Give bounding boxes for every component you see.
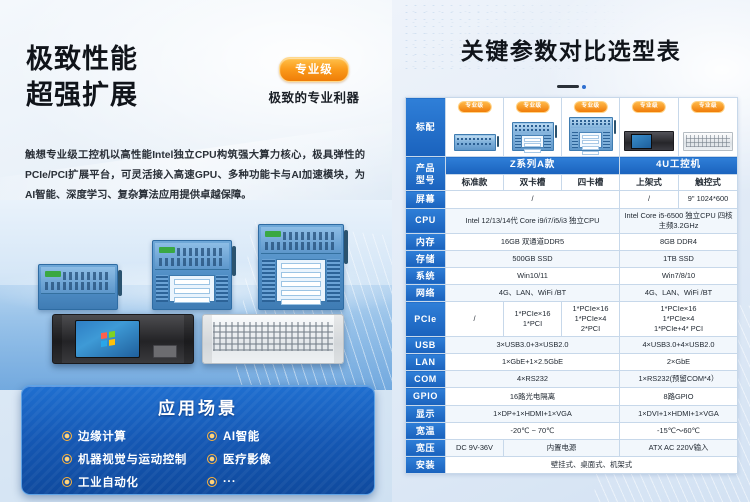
mini-box-icon	[454, 134, 496, 151]
pro-badge: 专业级	[279, 57, 349, 82]
device-tpc07	[258, 224, 344, 310]
headline-line-1: 极致性能	[26, 42, 138, 78]
left-panel: 极致性能 超强扩展 专业级 极致的专业利器 触想专业级工控机以高性能Intel独…	[0, 0, 392, 502]
group-header-4u: 4U工控机	[620, 157, 738, 175]
rowhead-13: 宽压	[406, 439, 446, 456]
page-title: 极致性能 超强扩展	[26, 42, 138, 113]
mini-box-icon	[569, 117, 613, 151]
table-row: 内存16GB 双通道DDR58GB DDR4	[406, 233, 738, 250]
bullet-icon	[207, 477, 217, 487]
scenario-item: AI智能	[207, 428, 352, 444]
spec-table-title: 关键参数对比选型表	[392, 32, 750, 66]
mini-port-row	[515, 129, 551, 131]
mini-port-row	[457, 138, 493, 140]
cell-r6-c2: 1*PCIe×161*PCIe×42*PCI	[562, 302, 620, 337]
mini-rack-light-icon	[683, 132, 733, 151]
rowhead-line-2: 型号	[407, 174, 444, 186]
rowhead-8: LAN	[406, 354, 446, 371]
cell-r5-c0: 4G、LAN、WiFi /BT	[446, 284, 620, 301]
cell-r6-c1: 1*PCIe×161*PCI	[504, 302, 562, 337]
mini-vent-left	[515, 135, 521, 148]
power-button-group	[153, 345, 177, 358]
rowhead-standard: 标配	[406, 98, 446, 157]
port-row-bottom	[45, 282, 111, 290]
table-row-model-subs: 标准款 双卡槽 四卡槽 上架式 触控式	[406, 174, 738, 191]
device-tpc03-rack	[202, 314, 344, 364]
scenarios-title: 应用场景	[22, 394, 374, 419]
cell-r4-c0: Win10/11	[446, 267, 620, 284]
device-tpc03-panel-pc	[52, 314, 194, 364]
table-row: 宽温-20℃ ~ 70℃-15℃～60℃	[406, 422, 738, 439]
mini-vent-left	[572, 132, 579, 148]
scenario-label: 工业自动化	[78, 474, 139, 490]
device-front-panel	[261, 227, 341, 254]
device-tpc05	[38, 264, 118, 310]
cell-r12-c0: -20℃ ~ 70℃	[446, 422, 620, 439]
mini-expansion-slots	[521, 135, 543, 148]
port-row-top	[283, 232, 337, 240]
mini-pro-badge: 专业级	[457, 101, 491, 113]
device-front-panel	[155, 243, 229, 270]
thumb-cell-1: 专业级	[446, 98, 504, 157]
table-row: 系统Win10/11Win7/8/10	[406, 267, 738, 284]
table-row: 安装壁挂式、桌面式、机架式	[406, 457, 738, 474]
cell-r4-c1: Win7/8/10	[620, 267, 738, 284]
rowhead-12: 宽温	[406, 422, 446, 439]
rowhead-9: COM	[406, 371, 446, 388]
cell-r3-c1: 1TB SSD	[620, 250, 738, 267]
cell-r12-c1: -15℃～60℃	[620, 422, 738, 439]
terminal-block-icon	[265, 231, 281, 237]
table-row: GPIO16路光电隔离8路GPIO	[406, 388, 738, 405]
rowhead-10: GPIO	[406, 388, 446, 405]
scenario-label: 边缘计算	[78, 428, 126, 444]
mini-ventilation-grille	[686, 135, 729, 147]
thumb-cell-2: 专业级	[504, 98, 562, 157]
rowhead-1: CPU	[406, 208, 446, 233]
product-description: 触想专业级工控机以高性能Intel独立CPU构筑强大算力核心，极具弹性的PCIe…	[25, 146, 365, 206]
scenario-label: 医疗影像	[223, 451, 271, 467]
pro-badge-group: 专业级 极致的专业利器	[246, 57, 382, 106]
rowhead-0: 屏幕	[406, 191, 446, 208]
antenna-icon	[344, 230, 348, 264]
cell-r6-c3: 1*PCIe×161*PCIe×41*PCIe+4* PCI	[620, 302, 738, 337]
scenario-item: 医疗影像	[207, 451, 352, 467]
thumbnail-device-5	[683, 132, 733, 151]
cell-r8-c0: 1×GbE+1×2.5GbE	[446, 354, 620, 371]
rowhead-line-1: 产品	[407, 162, 444, 174]
cell-r1-c0: Intel 12/13/14代 Core i9/i7/i5/i3 独立CPU	[446, 208, 620, 233]
vent-right	[216, 275, 228, 302]
mini-pro-badge: 专业级	[691, 101, 725, 113]
cell-r2-c1: 8GB DDR4	[620, 233, 738, 250]
scenario-label: 机器视觉与运动控制	[78, 451, 187, 467]
port-row-top	[177, 248, 225, 256]
cell-r10-c0: 16路光电隔离	[446, 388, 620, 405]
thumbnail-device-3	[569, 117, 613, 151]
model-sub-1: 标准款	[446, 174, 504, 191]
thumbnail-device-1	[454, 134, 496, 151]
scenario-item: 边缘计算	[62, 428, 207, 444]
cell-r5-c1: 4G、LAN、WiFi /BT	[620, 284, 738, 301]
thumb-cell-5: 专业级	[679, 98, 738, 157]
vent-left	[156, 275, 168, 302]
rack-ear-left	[53, 315, 62, 363]
mini-antenna-icon	[555, 125, 557, 138]
model-sub-5: 触控式	[679, 174, 738, 191]
bullet-icon	[62, 431, 72, 441]
cell-r13-c1: 内置电源	[504, 439, 620, 456]
table-row: 存储500GB SSD1TB SSD	[406, 250, 738, 267]
scenario-item: 机器视觉与运动控制	[62, 451, 207, 467]
spec-comparison-table: 标配 专业级 专业级	[405, 97, 738, 474]
product-photo-stage: TPC05-WIPC TPC06-WIPC	[0, 200, 392, 390]
thumb-cell-3: 专业级	[562, 98, 620, 157]
mini-port-row	[515, 125, 551, 127]
cell-r3-c0: 500GB SSD	[446, 250, 620, 267]
expansion-slots	[276, 259, 326, 302]
table-row-model-group: 产品 型号 Z系列A款 4U工控机	[406, 157, 738, 175]
table-row: CPUIntel 12/13/14代 Core i9/i7/i5/i3 独立CP…	[406, 208, 738, 233]
mini-antenna-icon	[614, 120, 616, 134]
right-panel: 关键参数对比选型表 标配 专业级	[392, 0, 750, 502]
rowhead-5: 网络	[406, 284, 446, 301]
port-row-top	[63, 272, 111, 280]
mini-antenna-icon	[497, 136, 499, 147]
bullet-icon	[62, 454, 72, 464]
ventilation-grille	[213, 322, 333, 352]
rowhead-2: 内存	[406, 233, 446, 250]
product-spec-infographic: 极致性能 超强扩展 专业级 极致的专业利器 触想专业级工控机以高性能Intel独…	[0, 0, 750, 502]
scenario-label: AI智能	[223, 428, 260, 444]
rowhead-3: 存储	[406, 250, 446, 267]
rack-ear-left	[203, 315, 212, 363]
windows-logo-icon	[101, 331, 115, 347]
cell-r11-c0: 1×DP+1×HDMI+1×VGA	[446, 405, 620, 422]
cell-r7-c1: 4×USB3.0+4×USB2.0	[620, 337, 738, 354]
scenario-item: ···	[207, 474, 352, 490]
cell-r2-c0: 16GB 双通道DDR5	[446, 233, 620, 250]
headline-line-2: 超强扩展	[26, 78, 138, 114]
scenario-label: ···	[223, 476, 236, 488]
scenarios-list: 边缘计算 AI智能 机器视觉与运动控制 医疗影像 工业自动化	[62, 428, 352, 495]
table-row: LAN1×GbE+1×2.5GbE2×GbE	[406, 354, 738, 371]
pro-badge-subtitle: 极致的专业利器	[246, 87, 382, 106]
cell-r9-c1: 1×RS232(预留COM*4）	[620, 371, 738, 388]
table-row: 网络4G、LAN、WiFi /BT4G、LAN、WiFi /BT	[406, 284, 738, 301]
antenna-icon	[232, 246, 236, 276]
terminal-block-icon	[45, 271, 61, 277]
device-tpc06	[152, 240, 232, 310]
cell-r0-c0: /	[446, 191, 620, 208]
model-sub-2: 双卡槽	[504, 174, 562, 191]
rowhead-4: 系统	[406, 267, 446, 284]
scenario-item: 工业自动化	[62, 474, 207, 490]
mini-port-row	[572, 120, 610, 122]
rowhead-14: 安装	[406, 457, 446, 474]
model-sub-4: 上架式	[620, 174, 679, 191]
cell-r0-c1: /	[620, 191, 679, 208]
table-row: PCIe/1*PCIe×161*PCI1*PCIe×161*PCIe×42*PC…	[406, 302, 738, 337]
cell-r0-c2: 9" 1024*600	[679, 191, 738, 208]
table-row: 显示1×DP+1×HDMI+1×VGA1×DVI+1×HDMI+1×VGA	[406, 405, 738, 422]
mini-expansion-slots	[579, 132, 603, 148]
table-row: 宽压DC 9V-36V内置电源ATX AC 220V输入	[406, 439, 738, 456]
mini-vent-right	[544, 135, 550, 148]
mini-pro-badge: 专业级	[573, 101, 607, 113]
thumbnail-device-4	[624, 131, 674, 151]
device-front-panel	[41, 267, 115, 294]
cell-r13-c2: ATX AC 220V输入	[620, 439, 738, 456]
bullet-icon	[207, 454, 217, 464]
cell-r7-c0: 3×USB3.0+3×USB2.0	[446, 337, 620, 354]
cell-r9-c0: 4×RS232	[446, 371, 620, 388]
port-row-bottom	[159, 258, 225, 266]
mini-display-screen	[631, 134, 652, 149]
thumbnail-device-2	[512, 122, 554, 151]
mini-pro-badge: 专业级	[515, 101, 549, 113]
table-row-thumbnails: 标配 专业级 专业级	[406, 98, 738, 157]
mini-port-row	[457, 143, 493, 145]
expansion-slots	[169, 275, 216, 302]
rowhead-11: 显示	[406, 405, 446, 422]
antenna-icon	[118, 270, 122, 296]
cell-r6-c0: /	[446, 302, 504, 337]
mini-box-icon	[512, 122, 554, 151]
table-row: COM4×RS2321×RS232(预留COM*4）	[406, 371, 738, 388]
mini-port-row	[572, 123, 610, 125]
cell-r1-c1: Intel Core i5-6500 独立CPU 四核 主频3.2GHz	[620, 208, 738, 233]
thumb-cell-4: 专业级	[620, 98, 679, 157]
bullet-icon	[62, 477, 72, 487]
port-row-bottom	[265, 242, 337, 250]
display-screen	[75, 320, 140, 358]
terminal-block-icon	[159, 247, 175, 253]
table-row: USB3×USB3.0+3×USB2.04×USB3.0+4×USB2.0	[406, 337, 738, 354]
table-row: 屏幕//9" 1024*600	[406, 191, 738, 208]
mini-pro-badge: 专业级	[632, 101, 666, 113]
application-scenarios-card: 应用场景 边缘计算 AI智能 机器视觉与运动控制 医疗影像	[21, 385, 375, 495]
cell-r14-c0: 壁挂式、桌面式、机架式	[446, 457, 738, 474]
rowhead-7: USB	[406, 337, 446, 354]
rack-ear-right	[184, 315, 193, 363]
cell-r8-c1: 2×GbE	[620, 354, 738, 371]
title-divider	[392, 78, 750, 96]
cell-r11-c1: 1×DVI+1×HDMI+1×VGA	[620, 405, 738, 422]
cell-r13-c0: DC 9V-36V	[446, 439, 504, 456]
mini-rack-dark-icon	[624, 131, 674, 151]
cell-r10-c1: 8路GPIO	[620, 388, 738, 405]
bullet-icon	[207, 431, 217, 441]
rowhead-6: PCIe	[406, 302, 446, 337]
vent-left	[262, 259, 275, 302]
mini-vent-right	[603, 132, 610, 148]
model-sub-3: 四卡槽	[562, 174, 620, 191]
rack-ear-right	[334, 315, 343, 363]
vent-right	[327, 259, 340, 302]
rowhead-product-model: 产品 型号	[406, 157, 446, 191]
group-header-z-series: Z系列A款	[446, 157, 620, 175]
